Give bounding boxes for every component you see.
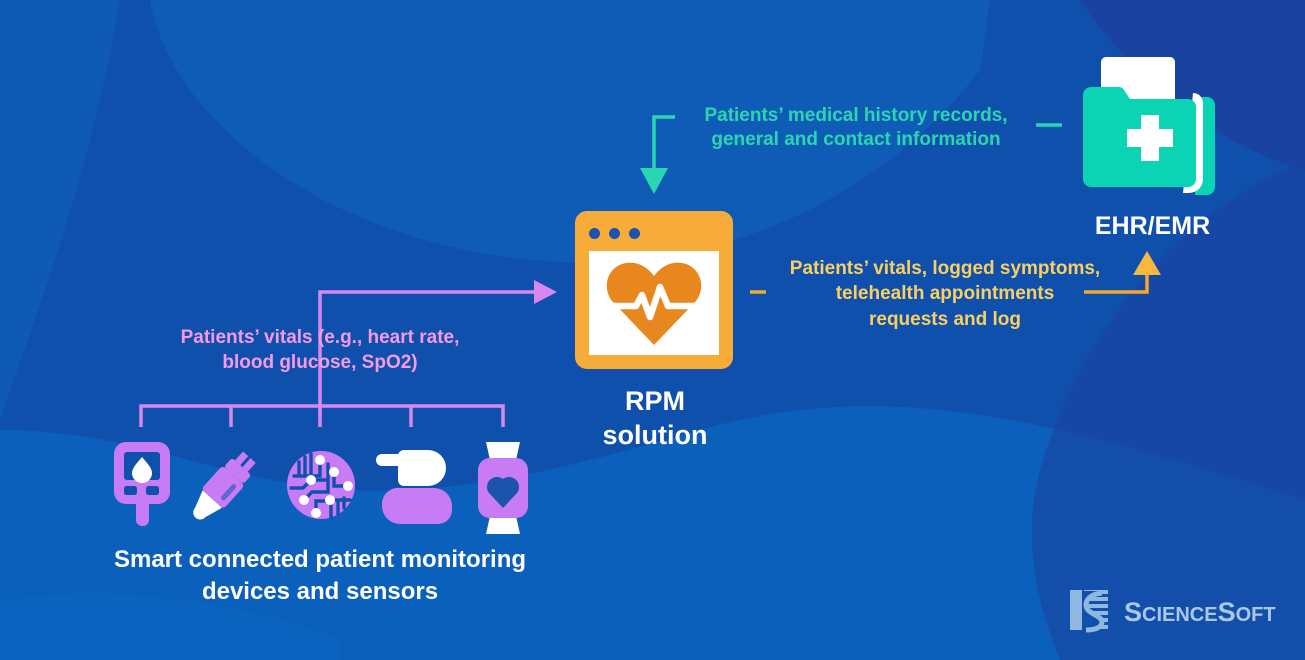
flow-label-line: telehealth appointments: [770, 281, 1120, 306]
flow-label-line: requests and log: [770, 307, 1120, 332]
flow-label-line: general and contact information: [686, 128, 1026, 152]
sciencesoft-logo-icon: SCIENCESOFT: [1068, 587, 1273, 633]
rpm-solution-label: RPM solution: [560, 385, 750, 453]
rpm-window-icon: [575, 211, 733, 369]
glucose-meter-icon: [110, 440, 174, 530]
flow-label-line: blood glucose, SpO2): [145, 351, 495, 376]
rpm-solution-node[interactable]: [575, 211, 733, 369]
logo-text: SCIENCESOFT: [1124, 597, 1276, 627]
devices-caption-line: Smart connected patient monitoring: [80, 544, 560, 576]
rpm-label-line: RPM: [560, 385, 750, 419]
window-dot: [609, 228, 620, 239]
device-glucose-meter[interactable]: [110, 440, 174, 530]
window-dot: [589, 228, 600, 239]
sensor-chip-icon: [286, 440, 356, 530]
flow-label-line: Patients’ vitals, logged symptoms,: [770, 256, 1120, 281]
flow-label-devices-to-rpm: Patients’ vitals (e.g., heart rate, bloo…: [145, 326, 495, 375]
smartwatch-heart-icon: [472, 440, 534, 536]
window-screen: [589, 251, 719, 355]
heartbeat-icon: [606, 259, 702, 347]
pulse-oximeter-icon: [380, 440, 454, 530]
ehr-emr-label: EHR/EMR: [1060, 212, 1245, 241]
insulin-pen-icon: [190, 440, 260, 530]
device-insulin-pen[interactable]: [190, 440, 254, 530]
flow-label-ehr-to-rpm: Patients’ medical history records, gener…: [686, 104, 1026, 153]
flow-label-line: Patients’ vitals (e.g., heart rate,: [145, 326, 495, 351]
diagram-canvas: Patients’ medical history records, gener…: [0, 0, 1305, 660]
device-pulse-oximeter[interactable]: [380, 440, 444, 530]
sciencesoft-logo[interactable]: SCIENCESOFT: [1068, 587, 1273, 633]
devices-caption-line: devices and sensors: [80, 576, 560, 608]
window-dots: [589, 228, 640, 239]
devices-caption: Smart connected patient monitoring devic…: [80, 544, 560, 608]
device-sensor-chip[interactable]: [286, 440, 350, 530]
flow-label-line: Patients’ medical history records,: [686, 104, 1026, 128]
window-dot: [629, 228, 640, 239]
device-smartwatch[interactable]: [472, 440, 536, 530]
medical-folder-icon: [1075, 55, 1225, 205]
ehr-emr-node[interactable]: [1075, 55, 1225, 205]
rpm-label-line: solution: [560, 419, 750, 453]
flow-label-rpm-to-ehr: Patients’ vitals, logged symptoms, teleh…: [770, 256, 1120, 332]
